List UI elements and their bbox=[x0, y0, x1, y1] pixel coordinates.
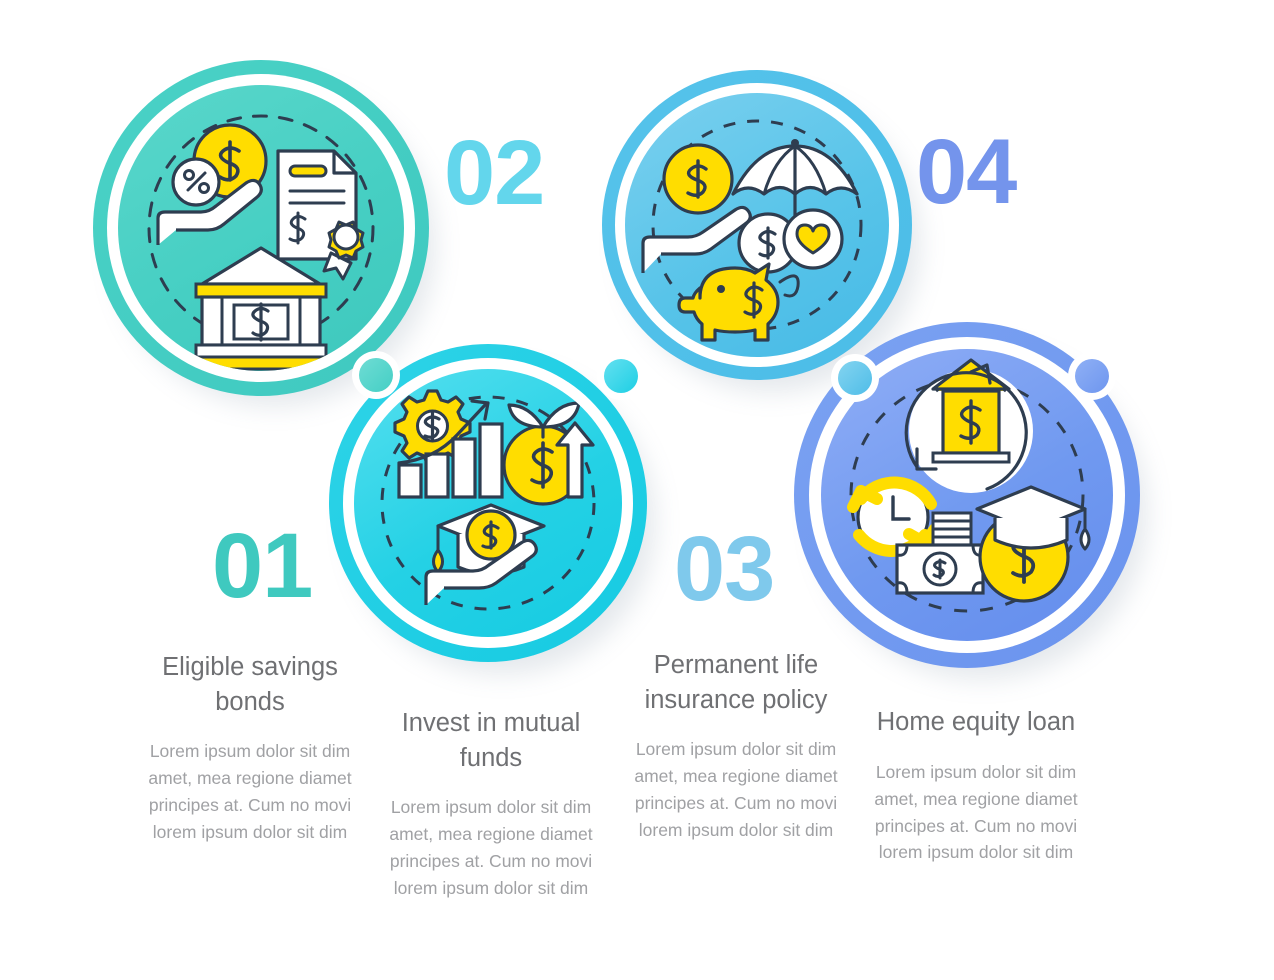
savings-bonds-icon bbox=[118, 85, 404, 371]
life-insurance-icon bbox=[625, 93, 889, 357]
step-body-04: Lorem ipsum dolor sit dim amet, mea regi… bbox=[857, 759, 1095, 867]
connector-dot-02-03 bbox=[597, 352, 645, 400]
step-circle-01[interactable] bbox=[93, 60, 429, 396]
mutual-funds-icon bbox=[354, 369, 622, 637]
circle-disc-03 bbox=[625, 93, 889, 357]
step-body-03: Lorem ipsum dolor sit dim amet, mea regi… bbox=[617, 736, 855, 844]
step-number-04: 04 bbox=[916, 126, 1016, 218]
step-number-03: 03 bbox=[674, 523, 774, 615]
circle-disc-02 bbox=[354, 369, 622, 637]
step-text-03: Permanent life insurance policy Lorem ip… bbox=[617, 648, 855, 844]
step-circle-03[interactable] bbox=[602, 70, 912, 380]
step-text-04: Home equity loan Lorem ipsum dolor sit d… bbox=[857, 705, 1095, 866]
connector-dot-01-02 bbox=[352, 351, 400, 399]
step-text-01: Eligible savings bonds Lorem ipsum dolor… bbox=[131, 650, 369, 846]
step-title-03: Permanent life insurance policy bbox=[617, 648, 855, 717]
step-text-02: Invest in mutual funds Lorem ipsum dolor… bbox=[372, 706, 610, 902]
step-title-01: Eligible savings bonds bbox=[131, 650, 369, 719]
infographic-canvas: 01 02 03 04 Eligible savings bonds Lorem… bbox=[0, 0, 1274, 980]
circle-disc-01 bbox=[118, 85, 404, 371]
step-number-02: 02 bbox=[444, 127, 544, 219]
step-title-04: Home equity loan bbox=[857, 705, 1095, 740]
connector-dot-03-04 bbox=[831, 354, 879, 402]
step-number-01: 01 bbox=[212, 520, 312, 612]
connector-dot-04-end bbox=[1068, 352, 1116, 400]
step-title-02: Invest in mutual funds bbox=[372, 706, 610, 775]
step-body-02: Lorem ipsum dolor sit dim amet, mea regi… bbox=[372, 794, 610, 902]
step-body-01: Lorem ipsum dolor sit dim amet, mea regi… bbox=[131, 738, 369, 846]
